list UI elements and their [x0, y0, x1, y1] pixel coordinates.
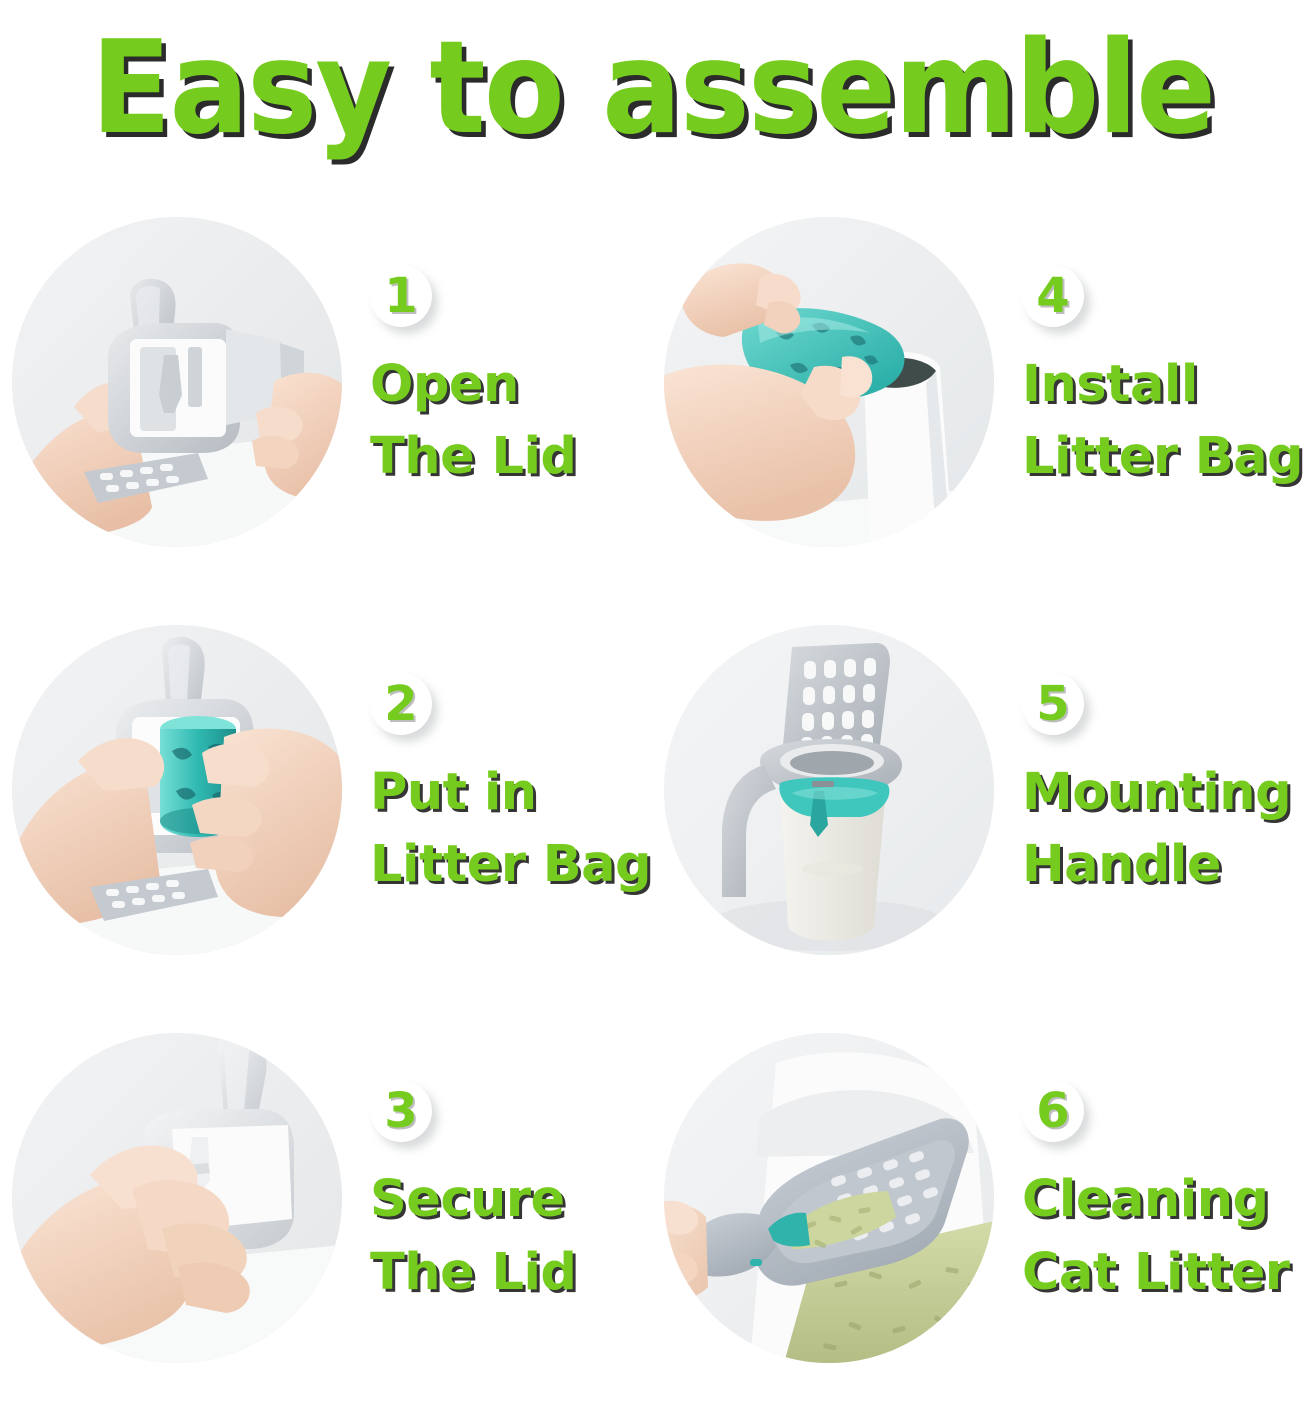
step-card-3: 3 Secure The Lid: [0, 994, 652, 1401]
step-number-4: 4: [1022, 265, 1084, 327]
step-number-6: 6: [1022, 1080, 1084, 1142]
step-photo-4: [664, 217, 994, 547]
step-label-4-line2: Litter Bags: [1022, 421, 1304, 493]
step-photo-1: [12, 217, 342, 547]
infographic-page: Easy to assemble: [0, 0, 1304, 1401]
step-number-badge-3: 3: [370, 1080, 436, 1146]
step-text-5: 5 Mounting Handle: [994, 673, 1304, 908]
step-card-1: 1 Open The Lid: [0, 178, 652, 586]
step-card-5: 5 Mounting Handle: [652, 586, 1304, 994]
page-title: Easy to assemble: [90, 25, 1213, 153]
step-label-6-line2: Cat Litter: [1022, 1237, 1304, 1309]
step-label-3-line2: The Lid: [370, 1237, 652, 1309]
step-number-5: 5: [1022, 673, 1084, 735]
step-text-4: 4 Install Litter Bags: [994, 265, 1304, 500]
step-photo-5: [664, 625, 994, 955]
step-number-badge-2: 2: [370, 673, 436, 739]
step-text-1: 1 Open The Lid: [342, 265, 652, 500]
step-number-2: 2: [370, 673, 432, 735]
step-label-6-line1: Cleaning: [1022, 1164, 1304, 1236]
step-label-5-line1: Mounting: [1022, 757, 1304, 829]
step-photo-2: [12, 625, 342, 955]
step-number-badge-6: 6: [1022, 1080, 1088, 1146]
step-number-1: 1: [370, 265, 432, 327]
step-card-2: 2 Put in Litter Bag: [0, 586, 652, 994]
title-banner: Easy to assemble: [0, 0, 1304, 178]
step-card-4: 4 Install Litter Bags: [652, 178, 1304, 586]
step-label-3-line1: Secure: [370, 1164, 652, 1236]
step-number-badge-4: 4: [1022, 265, 1088, 331]
step-number-badge-5: 5: [1022, 673, 1088, 739]
step-card-6: 6 Cleaning Cat Litter: [652, 994, 1304, 1401]
step-text-3: 3 Secure The Lid: [342, 1080, 652, 1315]
step-photo-3: [12, 1033, 342, 1363]
step-label-4-line1: Install: [1022, 349, 1304, 421]
step-label-2-line1: Put in: [370, 757, 652, 829]
step-label-1-line2: The Lid: [370, 421, 652, 493]
step-text-2: 2 Put in Litter Bag: [342, 673, 652, 908]
step-label-5-line2: Handle: [1022, 829, 1304, 901]
steps-grid: 1 Open The Lid: [0, 178, 1304, 1401]
step-label-2-line2: Litter Bag: [370, 829, 652, 901]
step-photo-6: [664, 1033, 994, 1363]
step-text-6: 6 Cleaning Cat Litter: [994, 1080, 1304, 1315]
step-label-1-line1: Open: [370, 349, 652, 421]
step-number-badge-1: 1: [370, 265, 436, 331]
step-number-3: 3: [370, 1080, 432, 1142]
